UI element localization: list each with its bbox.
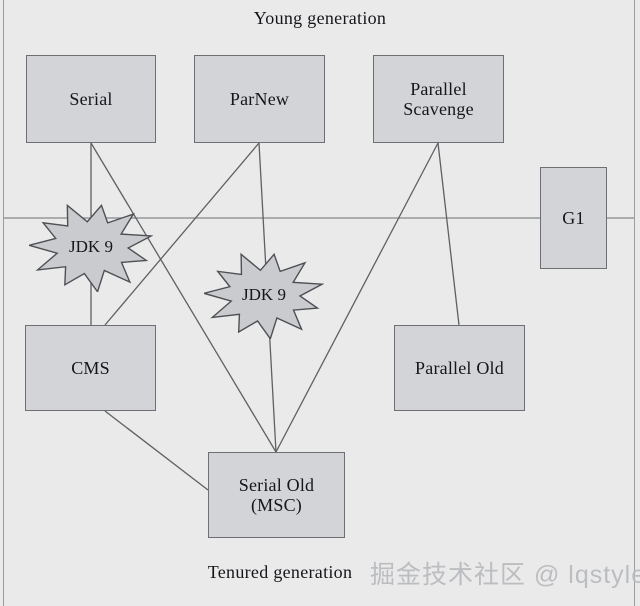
node-serial[interactable]: Serial xyxy=(26,55,156,143)
diagram-canvas: Young generation Tenured generation 掘金技术… xyxy=(0,0,640,606)
node-label-parallel-scavenge: ParallelScavenge xyxy=(403,79,474,119)
node-label-line2: (MSC) xyxy=(239,495,315,515)
node-label-line1: Parallel Old xyxy=(415,358,504,378)
young-generation-label: Young generation xyxy=(0,8,640,29)
watermark-text: 掘金技术社区 @ lqstyle xyxy=(370,555,640,591)
badge-label: JDK 9 xyxy=(69,237,113,257)
node-label-line1: CMS xyxy=(71,358,110,378)
node-g1[interactable]: G1 xyxy=(540,167,607,269)
node-label-line1: Serial xyxy=(69,89,112,109)
node-parnew[interactable]: ParNew xyxy=(194,55,325,143)
node-label-parnew: ParNew xyxy=(230,89,289,109)
node-label-cms: CMS xyxy=(71,358,110,378)
node-label-line1: Parallel xyxy=(403,79,474,99)
node-parallel-old[interactable]: Parallel Old xyxy=(394,325,525,411)
node-label-line1: G1 xyxy=(562,208,584,228)
badge-label: JDK 9 xyxy=(242,285,286,305)
node-cms[interactable]: CMS xyxy=(25,325,156,411)
node-parallel-scavenge[interactable]: ParallelScavenge xyxy=(373,55,504,143)
node-serial-old[interactable]: Serial Old(MSC) xyxy=(208,452,345,538)
node-label-parallel-old: Parallel Old xyxy=(415,358,504,378)
node-label-serial-old: Serial Old(MSC) xyxy=(239,475,315,515)
badge-jdk9-right: JDK 9 xyxy=(204,251,324,339)
node-label-g1: G1 xyxy=(562,208,584,228)
node-label-line2: Scavenge xyxy=(403,99,474,119)
node-label-serial: Serial xyxy=(69,89,112,109)
node-label-line1: Serial Old xyxy=(239,475,315,495)
node-label-line1: ParNew xyxy=(230,89,289,109)
badge-jdk9-left: JDK 9 xyxy=(29,202,153,292)
